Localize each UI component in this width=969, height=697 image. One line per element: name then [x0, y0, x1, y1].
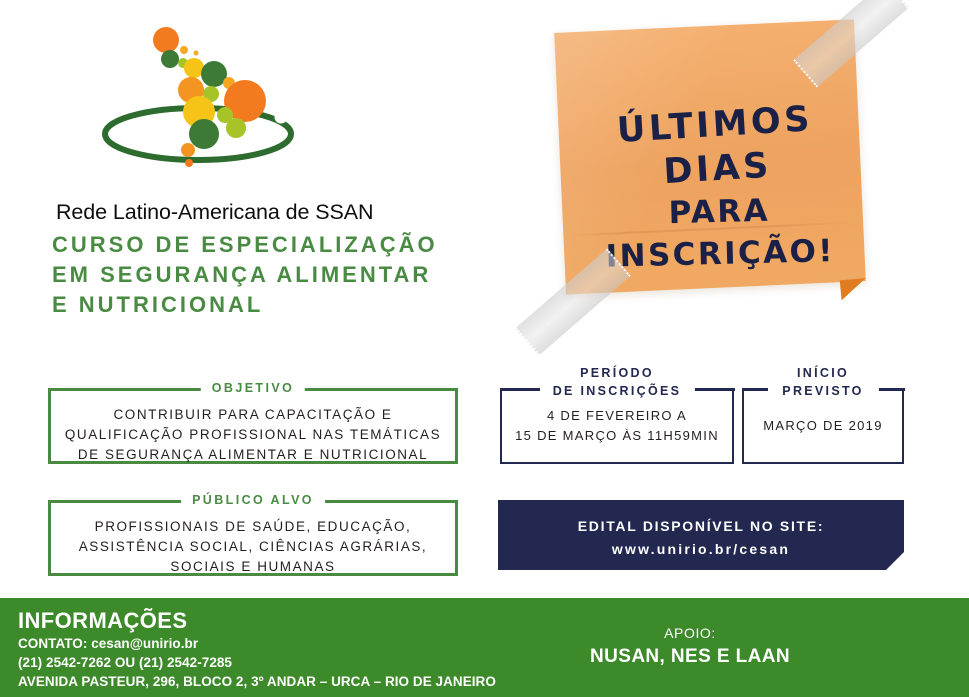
objetivo-line-1: CONTRIBUIR PARA CAPACITAÇÃO E [51, 405, 455, 425]
inicio-box-top-border-right [879, 388, 905, 391]
footer-address: AVENIDA PASTEUR, 296, BLOCO 2, 3º ANDAR … [18, 672, 558, 691]
periodo-body-line-1: 4 DE FEVEREIRO A [502, 406, 732, 426]
inicio-title-line-1: INÍCIO [782, 364, 863, 382]
publico-alvo-line-2: ASSISTÊNCIA SOCIAL, CIÊNCIAS AGRÁRIAS, [51, 537, 455, 557]
apoio-value: NUSAN, NES E LAAN [590, 644, 790, 670]
course-title-line-1: CURSO DE ESPECIALIZAÇÃO [52, 230, 482, 260]
footer-bar: INFORMAÇÕES CONTATO: cesan@unirio.br (21… [0, 598, 969, 697]
inicio-title-line-2: PREVISTO [782, 382, 863, 400]
footer-contact-email[interactable]: CONTATO: cesan@unirio.br [18, 634, 558, 653]
network-name: Rede Latino-Americana de SSAN [56, 200, 456, 225]
poster-canvas: Rede Latino-Americana de SSAN CURSO DE E… [0, 0, 969, 697]
publico-alvo-title: PÚBLICO ALVO [181, 493, 325, 507]
inicio-box-top-border-left [742, 388, 768, 391]
inicio-body-line-1: MARÇO DE 2019 [744, 416, 902, 436]
footer-phones: (21) 2542-7262 OU (21) 2542-7285 [18, 653, 558, 672]
inicio-previsto-box: INÍCIO PREVISTO MARÇO DE 2019 [742, 388, 904, 464]
edital-banner[interactable]: EDITAL DISPONÍVEL NO SITE: www.unirio.br… [498, 500, 904, 570]
footer-apoio-block: APOIO: NUSAN, NES E LAAN [590, 622, 790, 670]
sticky-note-fold-corner [840, 278, 868, 300]
objetivo-line-3: DE SEGURANÇA ALIMENTAR E NUTRICIONAL [51, 445, 455, 465]
rede-latino-americana-ssan-logo-icon [48, 18, 388, 183]
objetivo-box: OBJETIVO CONTRIBUIR PARA CAPACITAÇÃO E Q… [48, 388, 458, 464]
edital-banner-fold-corner [886, 552, 904, 570]
publico-alvo-body: PROFISSIONAIS DE SAÚDE, EDUCAÇÃO, ASSIST… [51, 517, 455, 577]
periodo-body-line-2: 15 DE MARÇO ÀS 11H59MIN [502, 426, 732, 446]
edital-website-link[interactable]: www.unirio.br/cesan [498, 534, 904, 557]
publico-alvo-line-3: SOCIAIS E HUMANAS [51, 557, 455, 577]
edital-label: EDITAL DISPONÍVEL NO SITE: [498, 500, 904, 534]
objetivo-title: OBJETIVO [201, 381, 305, 395]
ssan-logo-block: Rede Latino-Americana de SSAN [48, 18, 388, 218]
course-title-line-3: E NUTRICIONAL [52, 290, 482, 320]
apoio-label: APOIO: [590, 622, 790, 644]
periodo-title-line-2: DE INSCRIÇÕES [553, 382, 682, 400]
periodo-inscricoes-box: PERÍODO DE INSCRIÇÕES 4 DE FEVEREIRO A 1… [500, 388, 734, 464]
inicio-previsto-title: INÍCIO PREVISTO [782, 364, 863, 400]
periodo-title-line-1: PERÍODO [553, 364, 682, 382]
publico-alvo-box: PÚBLICO ALVO PROFISSIONAIS DE SAÚDE, EDU… [48, 500, 458, 576]
objetivo-line-2: QUALIFICAÇÃO PROFISSIONAL NAS TEMÁTICAS [51, 425, 455, 445]
course-title: CURSO DE ESPECIALIZAÇÃO EM SEGURANÇA ALI… [52, 230, 482, 320]
footer-information-block: INFORMAÇÕES CONTATO: cesan@unirio.br (21… [18, 608, 558, 691]
periodo-box-top-border-left [500, 388, 540, 391]
footer-info-title: INFORMAÇÕES [18, 608, 558, 634]
objetivo-body: CONTRIBUIR PARA CAPACITAÇÃO E QUALIFICAÇ… [51, 405, 455, 465]
publico-alvo-line-1: PROFISSIONAIS DE SAÚDE, EDUCAÇÃO, [51, 517, 455, 537]
course-title-line-2: EM SEGURANÇA ALIMENTAR [52, 260, 482, 290]
sticky-note-area: ÚLTIMOS DIAS PARA INSCRIÇÃO! [498, 8, 918, 338]
periodo-inscricoes-title: PERÍODO DE INSCRIÇÕES [553, 364, 682, 400]
periodo-box-top-border-right [695, 388, 735, 391]
